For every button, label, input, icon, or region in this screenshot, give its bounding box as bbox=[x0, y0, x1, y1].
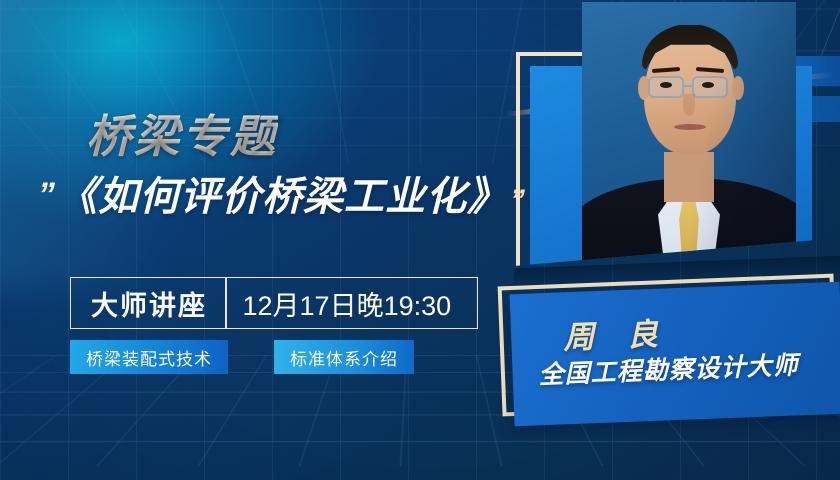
lecture-type-label: 大师讲座 bbox=[71, 284, 225, 323]
subtitle: 《如何评价桥梁工业化》 bbox=[57, 176, 508, 218]
subtitle-row: ” 《如何评价桥梁工业化》 ” bbox=[38, 176, 523, 218]
avatar bbox=[582, 2, 796, 268]
topic-tag[interactable]: 桥梁装配式技术 bbox=[70, 340, 228, 374]
lecture-datetime: 12月17日晚19:30 bbox=[227, 284, 478, 323]
page-title: 桥梁专题 bbox=[86, 100, 278, 165]
topic-tag[interactable]: 标准体系介绍 bbox=[274, 340, 414, 374]
quote-open-icon: ” bbox=[38, 178, 53, 212]
topic-tag-row: 桥梁装配式技术 标准体系介绍 bbox=[70, 340, 414, 374]
poster-text-column: 桥梁专题 ” 《如何评价桥梁工业化》 ” 大师讲座 12月17日晚19:30 桥… bbox=[0, 0, 512, 480]
speaker-column: 周 良 全国工程勘察设计大师 bbox=[490, 0, 840, 480]
portrait-shading bbox=[582, 2, 796, 268]
speaker-name-panel: 周 良 全国工程勘察设计大师 bbox=[510, 282, 840, 427]
lecture-info-box: 大师讲座 12月17日晚19:30 bbox=[70, 277, 478, 329]
webinar-poster: 桥梁专题 ” 《如何评价桥梁工业化》 ” 大师讲座 12月17日晚19:30 桥… bbox=[0, 0, 840, 480]
speaker-photo-clip bbox=[490, 0, 840, 268]
